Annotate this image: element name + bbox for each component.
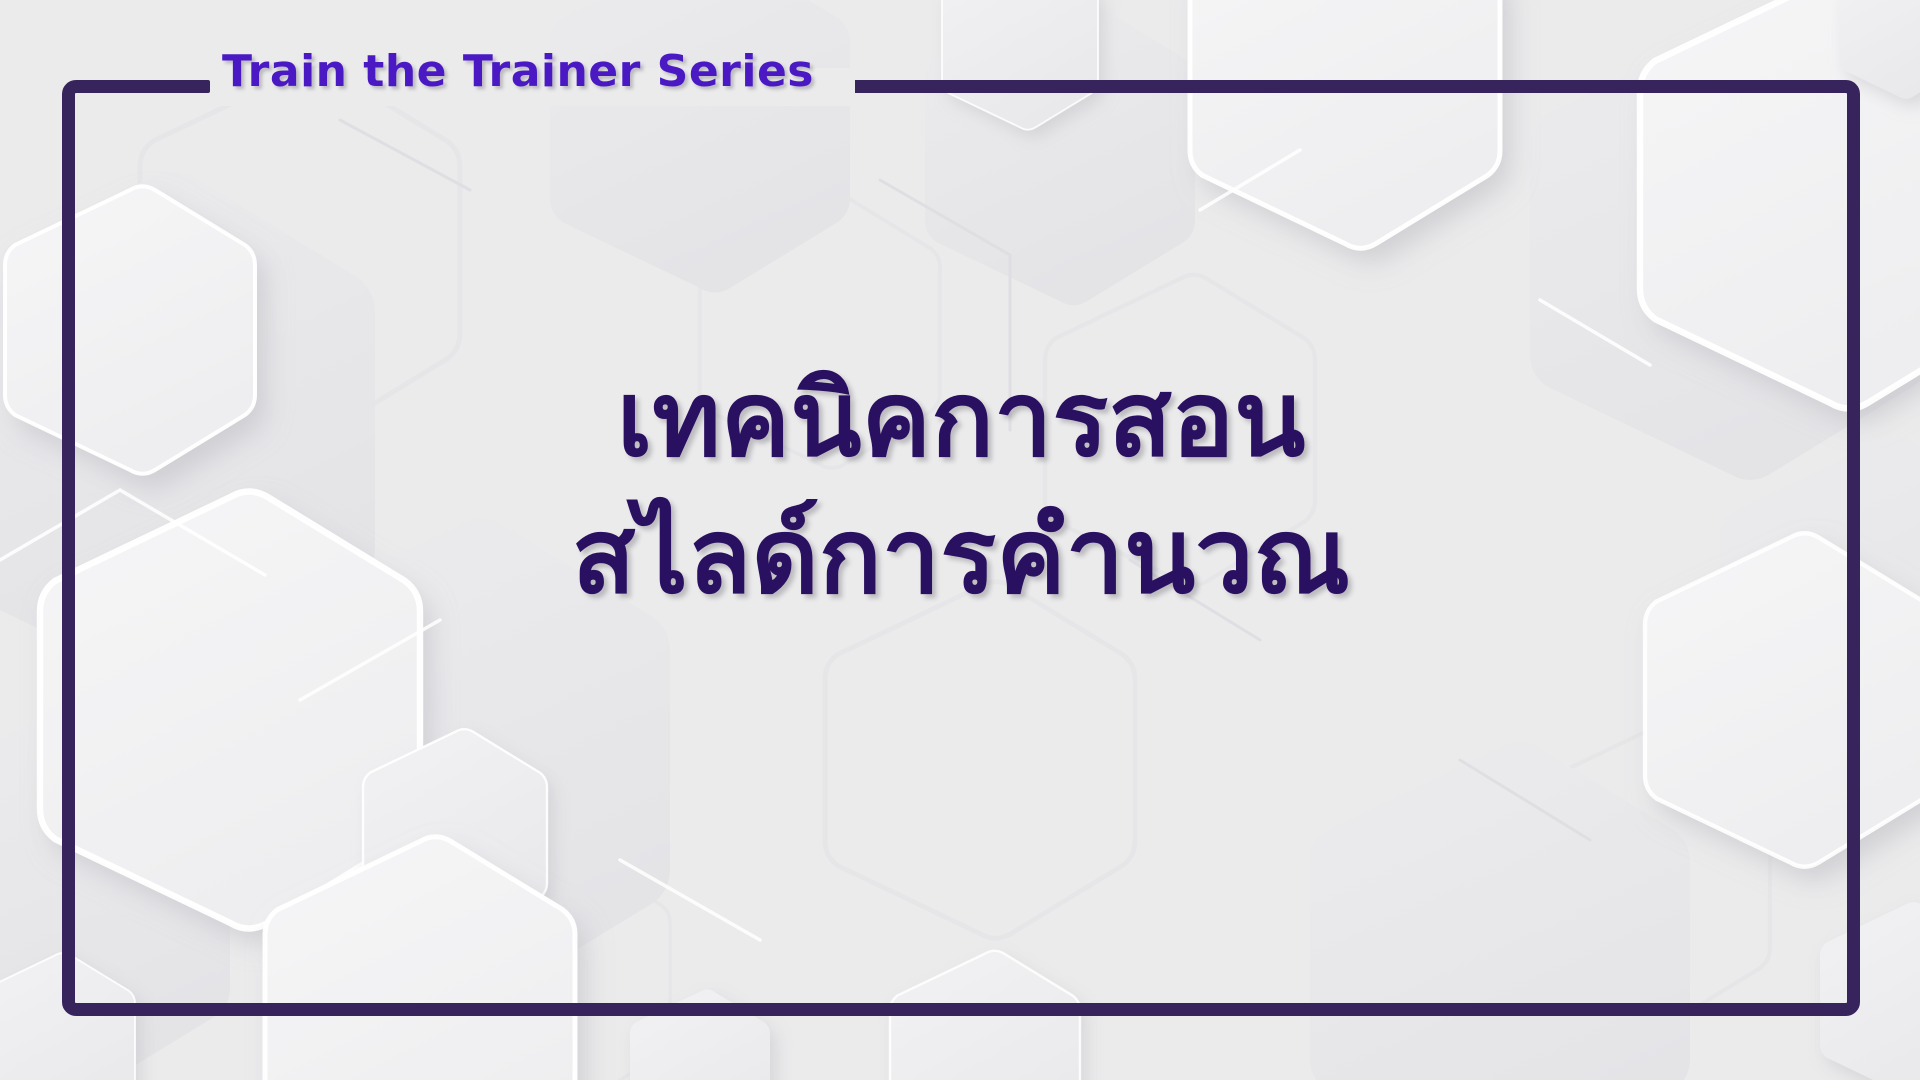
slide-title-line-2: สไลด์การคำนวณ — [572, 488, 1350, 625]
slide-canvas: Train the Trainer Series เทคนิคการสอน สไ… — [0, 0, 1920, 1080]
slide-title-line-1: เทคนิคการสอน — [617, 351, 1306, 488]
series-eyebrow-label: Train the Trainer Series — [222, 46, 814, 97]
slide-title-block: เทคนิคการสอน สไลด์การคำนวณ — [62, 20, 1860, 956]
